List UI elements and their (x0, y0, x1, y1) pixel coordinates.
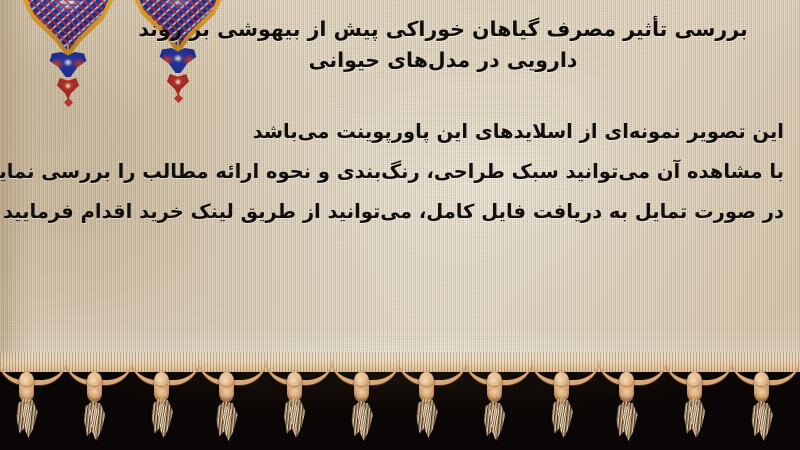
slide-body: این تصویر نمونه‌ای از اسلایدهای این پاور… (6, 112, 784, 232)
fringe-knot (354, 372, 369, 402)
slide-title: بررسی تأثیر مصرف گیاهان خوراکی پیش از بی… (98, 14, 788, 76)
slide-text-layer: بررسی تأثیر مصرف گیاهان خوراکی پیش از بی… (0, 0, 800, 374)
fringe-knot (619, 372, 634, 402)
slide-body-line-1: این تصویر نمونه‌ای از اسلایدهای این پاور… (6, 112, 784, 152)
slide-title-line-1: بررسی تأثیر مصرف گیاهان خوراکی پیش از بی… (98, 14, 788, 45)
fringe-knot (19, 372, 34, 402)
fringe-knot (687, 372, 702, 402)
carpet-fringe (0, 358, 800, 450)
slide-title-line-2: دارویی در مدل‌های حیوانی (98, 45, 788, 76)
fringe-knot (419, 372, 434, 402)
fringe-knot (754, 372, 769, 402)
fringe-knot (487, 372, 502, 402)
slide-canvas: بررسی تأثیر مصرف گیاهان خوراکی پیش از بی… (0, 0, 800, 450)
fringe-knot (87, 372, 102, 402)
slide-body-line-3: در صورت تمایل به دریافت فایل کامل، می‌تو… (6, 192, 784, 232)
slide-body-line-2: با مشاهده آن می‌توانید سبک طراحی، رنگ‌بن… (6, 152, 784, 192)
fringe-knot (154, 372, 169, 402)
fringe-knot (287, 372, 302, 402)
fringe-knot (554, 372, 569, 402)
fringe-knot (219, 372, 234, 402)
